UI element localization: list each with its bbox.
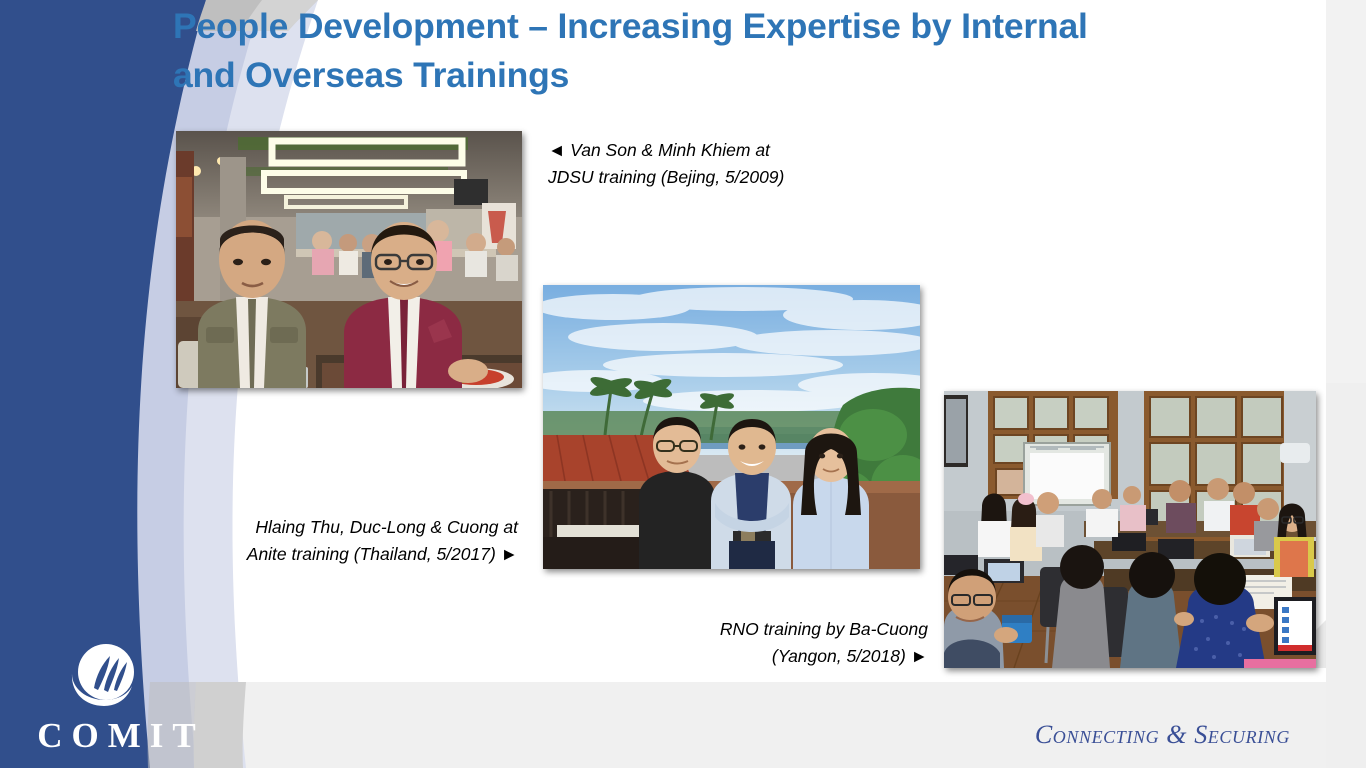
- comit-logo-text: COMIT: [36, 716, 206, 756]
- footer-tagline: Connecting & Securing: [860, 720, 1290, 750]
- slide-title: People Development – Increasing Expertis…: [173, 2, 1093, 100]
- caption-anite-training: Hlaing Thu, Duc-Long & Cuong at Anite tr…: [198, 514, 518, 568]
- presentation-slide: People Development – Increasing Expertis…: [0, 0, 1366, 768]
- anite-training-photo-image: [543, 285, 920, 569]
- anite-training-photo[interactable]: [543, 285, 920, 569]
- comit-logo-mark-icon: [68, 640, 140, 712]
- caption-jdsu-training: ◄ Van Son & Minh Khiem at JDSU training …: [548, 137, 968, 191]
- rno-training-photo-image: [944, 391, 1316, 668]
- jdsu-training-photo-image: [176, 131, 522, 388]
- comit-logo: COMIT: [36, 640, 236, 758]
- jdsu-training-photo[interactable]: [176, 131, 522, 388]
- rno-training-photo[interactable]: [944, 391, 1316, 668]
- caption-rno-training: RNO training by Ba-Cuong (Yangon, 5/2018…: [660, 616, 928, 670]
